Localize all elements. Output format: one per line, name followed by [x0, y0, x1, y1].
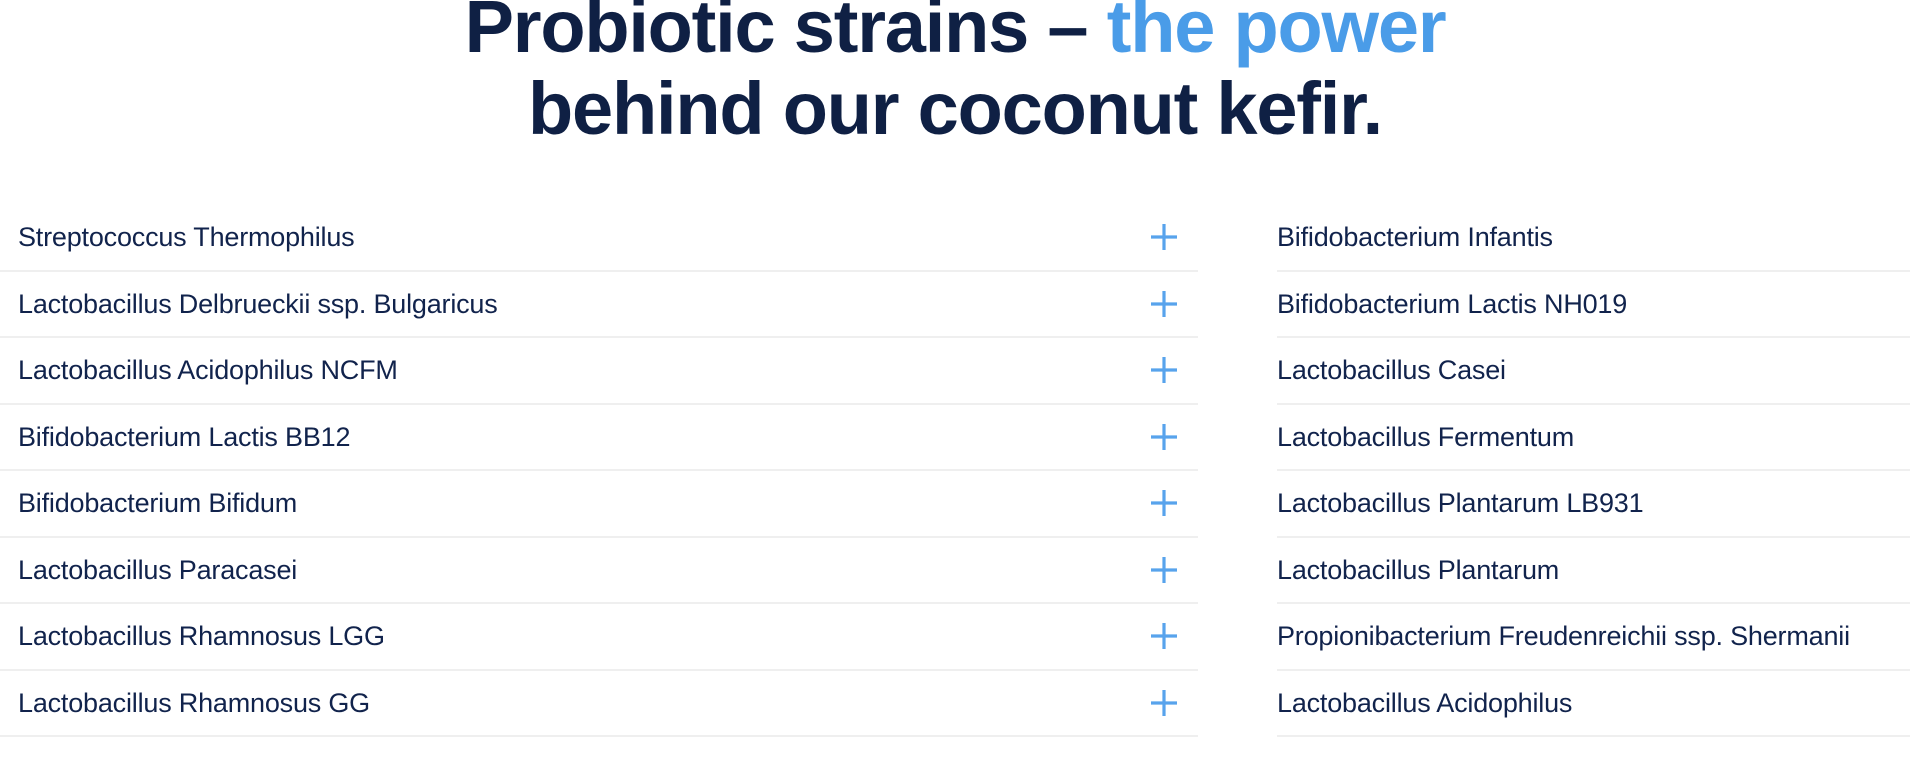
- strain-row[interactable]: Lactobacillus Casei: [1277, 338, 1910, 405]
- strain-row[interactable]: Streptococcus Thermophilus: [0, 205, 1198, 272]
- page-title-line-2: behind our coconut kefir.: [0, 68, 1910, 150]
- strain-name: Lactobacillus Acidophilus NCFM: [0, 353, 398, 387]
- strain-name: Lactobacillus Fermentum: [1277, 420, 1574, 454]
- strain-row[interactable]: Bifidobacterium Lactis BB12: [0, 405, 1198, 472]
- strain-name: Lactobacillus Delbrueckii ssp. Bulgaricu…: [0, 287, 498, 321]
- plus-icon[interactable]: [1150, 423, 1178, 451]
- strain-list-right: Bifidobacterium Infantis Bifidobacterium…: [1277, 205, 1910, 737]
- strain-name: Streptococcus Thermophilus: [0, 220, 354, 254]
- strain-row[interactable]: Lactobacillus Rhamnosus LGG: [0, 604, 1198, 671]
- strain-row[interactable]: Lactobacillus Rhamnosus GG: [0, 671, 1198, 738]
- strain-name: Lactobacillus Casei: [1277, 353, 1506, 387]
- strain-name: Lactobacillus Rhamnosus GG: [0, 686, 370, 720]
- strain-row[interactable]: Lactobacillus Plantarum LB931: [1277, 471, 1910, 538]
- strain-name: Lactobacillus Plantarum: [1277, 553, 1559, 587]
- strain-name: Lactobacillus Rhamnosus LGG: [0, 619, 385, 653]
- plus-icon[interactable]: [1150, 356, 1178, 384]
- plus-icon[interactable]: [1150, 689, 1178, 717]
- strain-name: Bifidobacterium Bifidum: [0, 486, 297, 520]
- strain-name: Propionibacterium Freudenreichii ssp. Sh…: [1277, 619, 1850, 653]
- strain-list-left: Streptococcus Thermophilus Lactobacillus…: [0, 205, 1198, 737]
- plus-icon[interactable]: [1150, 556, 1178, 584]
- strain-row[interactable]: Lactobacillus Fermentum: [1277, 405, 1910, 472]
- strain-name: Lactobacillus Plantarum LB931: [1277, 486, 1643, 520]
- strain-row[interactable]: Bifidobacterium Infantis: [1277, 205, 1910, 272]
- strain-name: Bifidobacterium Infantis: [1277, 220, 1553, 254]
- probiotic-strains-page: Probiotic strains – the power behind our…: [0, 0, 1910, 782]
- strain-columns: Streptococcus Thermophilus Lactobacillus…: [0, 205, 1910, 737]
- strain-row[interactable]: Lactobacillus Acidophilus NCFM: [0, 338, 1198, 405]
- plus-icon[interactable]: [1150, 290, 1178, 318]
- strain-row[interactable]: Lactobacillus Delbrueckii ssp. Bulgaricu…: [0, 272, 1198, 339]
- strain-row[interactable]: Propionibacterium Freudenreichii ssp. Sh…: [1277, 604, 1910, 671]
- page-title-accent: the power: [1107, 0, 1446, 68]
- plus-icon[interactable]: [1150, 489, 1178, 517]
- strain-row[interactable]: Lactobacillus Plantarum: [1277, 538, 1910, 605]
- strain-name: Bifidobacterium Lactis BB12: [0, 420, 350, 454]
- strain-row[interactable]: Bifidobacterium Bifidum: [0, 471, 1198, 538]
- page-heading: Probiotic strains – the power behind our…: [0, 0, 1910, 150]
- strain-row[interactable]: Lactobacillus Acidophilus: [1277, 671, 1910, 738]
- page-title-line-1: Probiotic strains – the power: [0, 0, 1910, 68]
- strain-name: Bifidobacterium Lactis NH019: [1277, 287, 1627, 321]
- strain-name: Lactobacillus Acidophilus: [1277, 686, 1572, 720]
- strain-row[interactable]: Bifidobacterium Lactis NH019: [1277, 272, 1910, 339]
- strain-name: Lactobacillus Paracasei: [0, 553, 297, 587]
- plus-icon[interactable]: [1150, 223, 1178, 251]
- strain-row[interactable]: Lactobacillus Paracasei: [0, 538, 1198, 605]
- plus-icon[interactable]: [1150, 622, 1178, 650]
- page-title-prefix: Probiotic strains –: [465, 0, 1107, 68]
